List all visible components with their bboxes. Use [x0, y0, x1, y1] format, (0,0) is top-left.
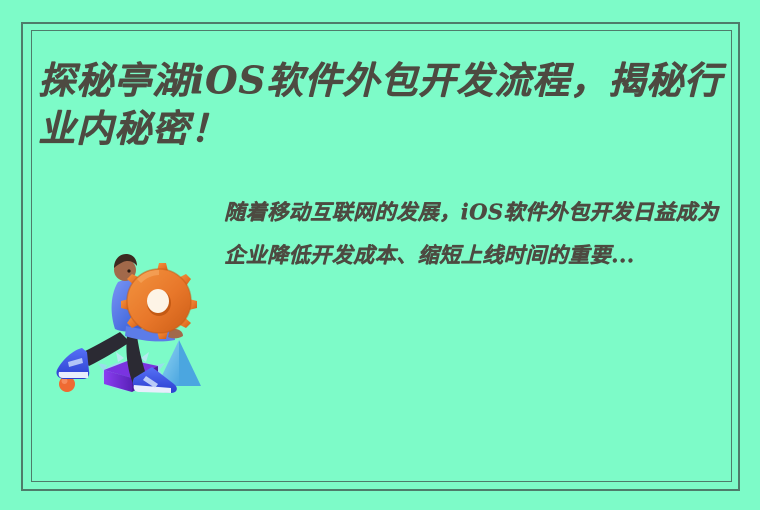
article-card: 探秘亭湖iOS软件外包开发流程，揭秘行业内秘密！ 随着移动互联网的发展，iOS软…: [0, 0, 760, 510]
article-summary: 随着移动互联网的发展，iOS软件外包开发日益成为企业降低开发成本、缩短上线时间的…: [224, 190, 732, 276]
article-headline: 探秘亭湖iOS软件外包开发流程，揭秘行业内秘密！: [38, 56, 750, 152]
orange-gear-shape: [121, 263, 197, 339]
person-carrying-gear-illustration: [46, 244, 206, 396]
back-shoe: [56, 348, 89, 379]
